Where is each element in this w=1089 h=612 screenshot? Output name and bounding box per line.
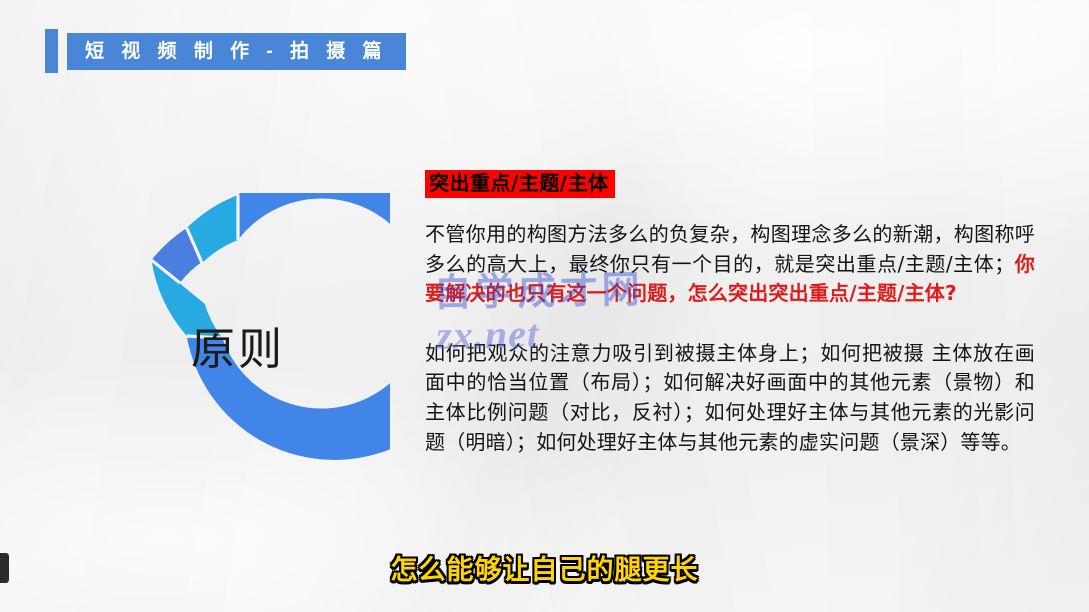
paragraph-one: 不管你用的构图方法多么的负复杂，构图理念多么的新潮，构图称呼多么的高大上，最终你… [425,220,1035,309]
page-title: 短 视 频 制 作 - 拍 摄 篇 [85,42,388,61]
section-heading: 突出重点/主题/主体 [425,170,615,198]
edge-marker [0,553,9,583]
paragraph-two: 如何把观众的注意力吸引到被摄主体身上；如何把被摄 主体放在画面中的恰当位置（布局… [425,339,1035,457]
slide-title-bar: 短 视 频 制 作 - 拍 摄 篇 [67,33,406,70]
video-subtitle: 怎么能够让自己的腿更长 [0,548,1089,587]
content-column: 突出重点/主题/主体 不管你用的构图方法多么的负复杂，构图理念多么的新潮，构图称… [425,170,1035,457]
title-accent-square [45,29,58,73]
paragraph-one-plain: 不管你用的构图方法多么的负复杂，构图理念多么的新潮，构图称呼多么的高大上，最终你… [425,222,1035,276]
donut-center-label: 原则 [86,193,390,497]
donut-chart: 原则 [86,193,390,497]
